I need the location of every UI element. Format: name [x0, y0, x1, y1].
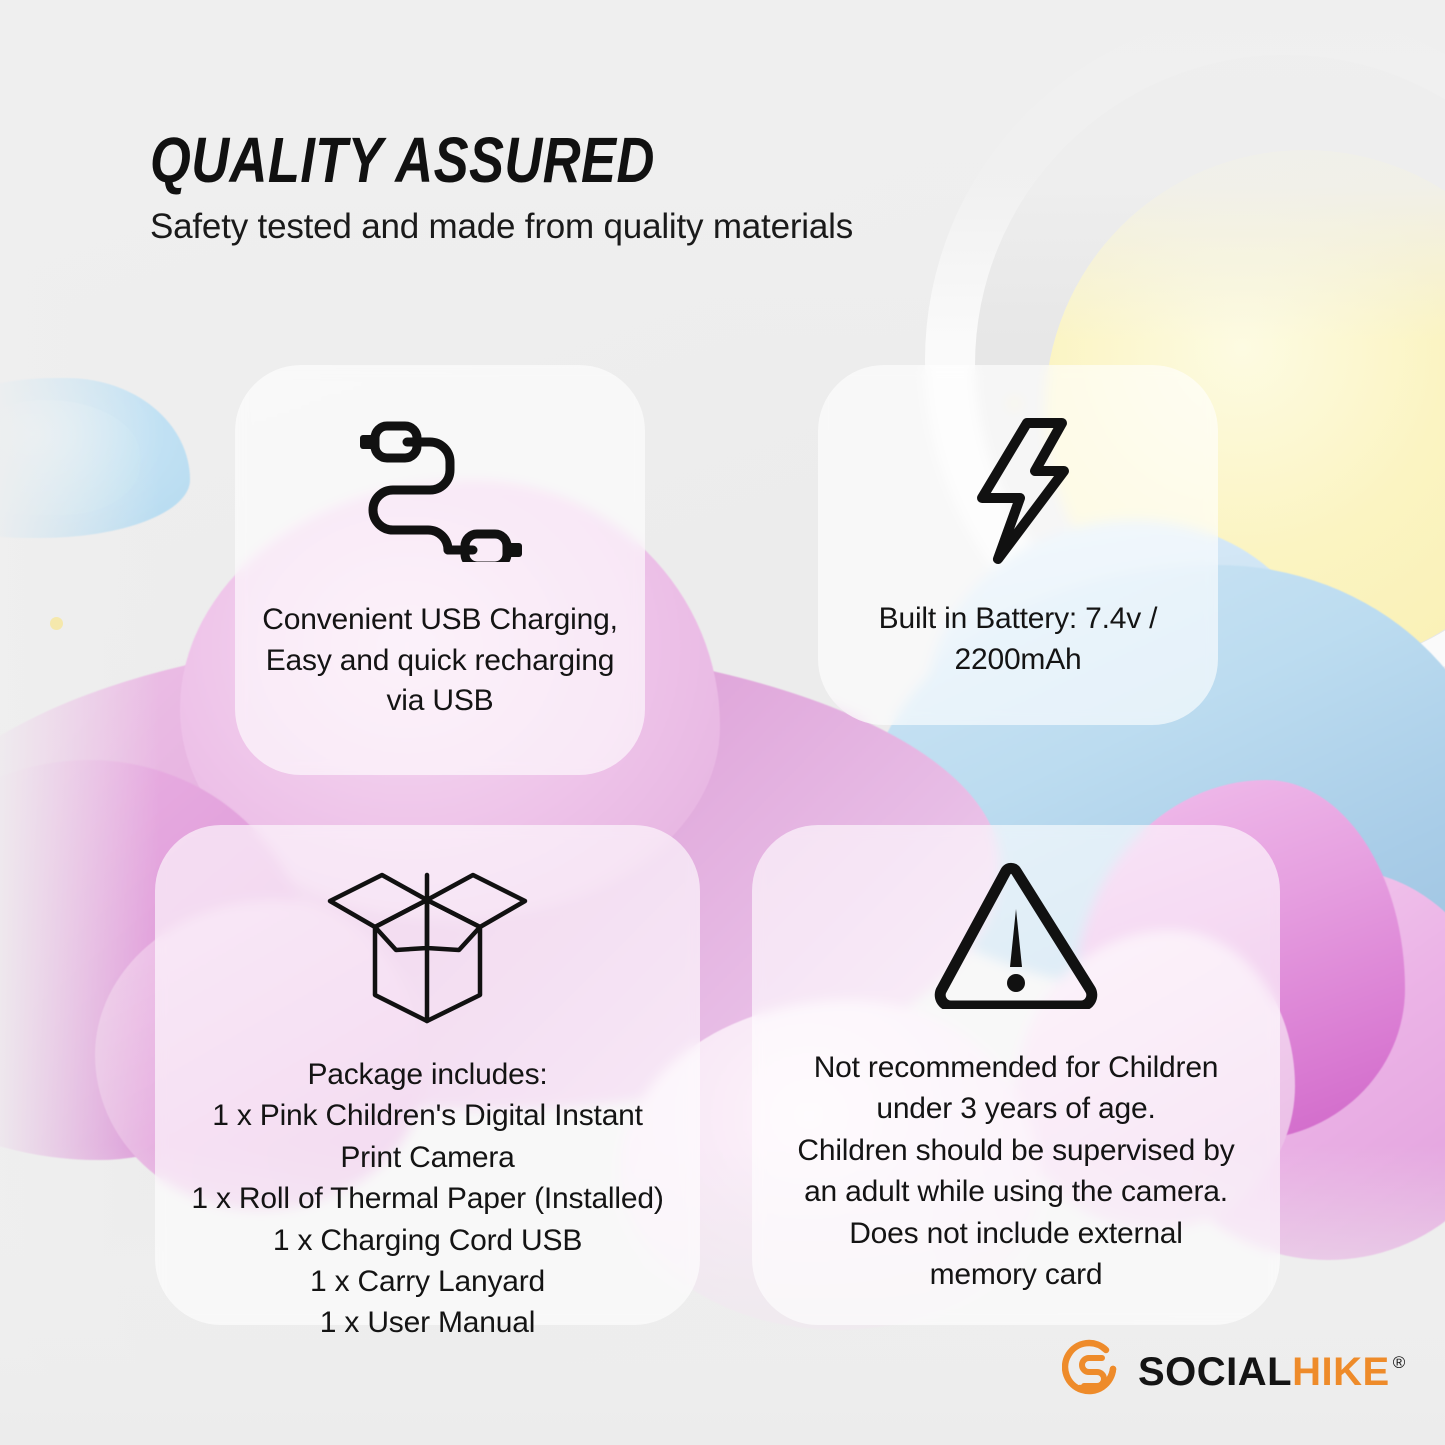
feature-card-grid: Convenient USB Charging, Easy and quick …	[0, 0, 1445, 1445]
brand-logo-wordmark: SOCIAL HIKE ®	[1138, 1352, 1406, 1392]
registered-trademark-symbol: ®	[1393, 1354, 1406, 1371]
socialhike-swirl-icon	[1062, 1338, 1124, 1405]
feature-card-safety-warning: Not recommended for Children under 3 yea…	[752, 825, 1280, 1325]
open-box-icon	[320, 853, 535, 1028]
feature-card-safety-warning-text: Not recommended for Children under 3 yea…	[766, 1047, 1266, 1295]
content-layer: QUALITY ASSURED Safety tested and made f…	[0, 0, 1445, 1445]
feature-card-usb-charging-text: Convenient USB Charging, Easy and quick …	[255, 600, 625, 722]
feature-card-usb-charging: Convenient USB Charging, Easy and quick …	[235, 365, 645, 775]
feature-card-package-contents: Package includes: 1 x Pink Children's Di…	[155, 825, 700, 1325]
brand-logo: SOCIAL HIKE ®	[1062, 1338, 1406, 1405]
feature-card-battery-text: Built in Battery: 7.4v / 2200mAh	[838, 599, 1198, 680]
feature-card-package-contents-text: Package includes: 1 x Pink Children's Di…	[168, 1054, 688, 1344]
usb-cable-icon	[353, 417, 528, 562]
brand-name-primary: SOCIAL	[1138, 1352, 1292, 1392]
lightning-bolt-icon	[963, 415, 1073, 567]
feature-card-battery: Built in Battery: 7.4v / 2200mAh	[818, 365, 1218, 725]
brand-name-secondary: HIKE	[1292, 1352, 1390, 1392]
warning-triangle-icon	[932, 859, 1100, 1009]
infographic-canvas: QUALITY ASSURED Safety tested and made f…	[0, 0, 1445, 1445]
